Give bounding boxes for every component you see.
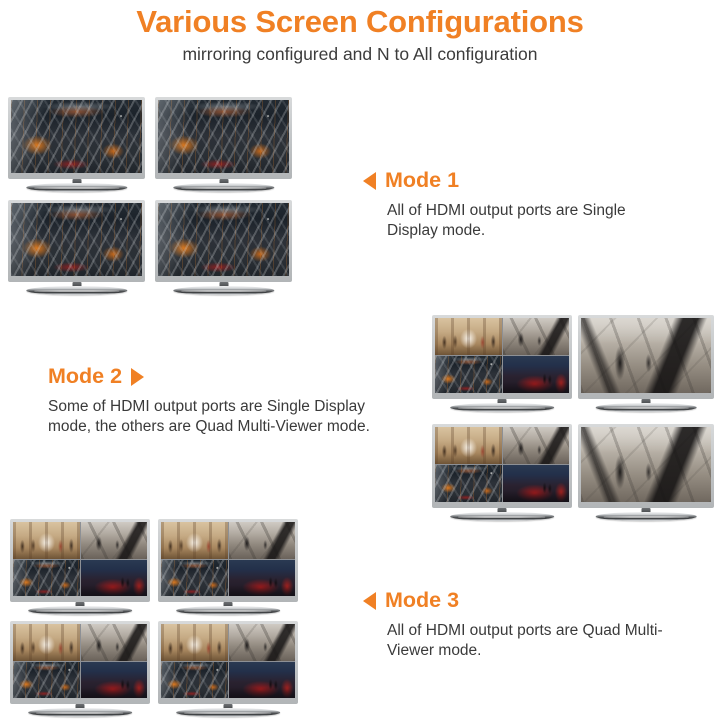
mode3-tv-4 (158, 621, 298, 717)
tv-screen (435, 318, 569, 393)
mode-2-block: Mode 2 Some of HDMI output ports are Sin… (48, 366, 373, 438)
screen-pane-battle (229, 522, 296, 559)
screen-pane-dusk (229, 560, 296, 597)
screen-pane-battle (503, 318, 570, 355)
triangle-left-icon (363, 592, 376, 610)
tv-stand (8, 282, 145, 295)
tv-screen (11, 100, 142, 173)
tv-stand (158, 602, 298, 615)
screen-pane-battle (503, 427, 570, 464)
mode1-tv-3 (8, 200, 145, 295)
tv-base (596, 403, 697, 412)
mode1-tv-4 (155, 200, 292, 295)
tv-base (28, 708, 132, 717)
screen-pane-battle (581, 318, 711, 393)
mode-1-heading: Mode 1 (363, 170, 663, 192)
screen-pane-city (11, 203, 142, 276)
screen-pane-city (435, 465, 502, 502)
mode3-tv-2 (158, 519, 298, 615)
mode-2-label: Mode 2 (48, 366, 122, 388)
tv-bezel (578, 315, 714, 399)
screen-pane-warm (161, 624, 228, 661)
tv-bezel (158, 621, 298, 704)
screen-pane-dusk (81, 560, 148, 597)
triangle-left-icon (363, 172, 376, 190)
tv-base (26, 286, 127, 295)
mode1-tv-1 (8, 97, 145, 192)
tv-bezel (8, 200, 145, 282)
screen-pane-dusk (503, 465, 570, 502)
tv-stand (578, 508, 714, 521)
screen-pane-warm (13, 624, 80, 661)
screen-pane-battle (81, 624, 148, 661)
mode-3-label: Mode 3 (385, 590, 459, 612)
tv-screen (13, 522, 147, 596)
screen-pane-city (158, 100, 289, 173)
mode3-tv-1 (10, 519, 150, 615)
screen-pane-city (11, 100, 142, 173)
triangle-right-icon (131, 368, 144, 386)
tv-stand (10, 602, 150, 615)
tv-stand (578, 399, 714, 412)
tv-bezel (578, 424, 714, 508)
screen-pane-city (13, 560, 80, 597)
tv-screen (161, 624, 295, 698)
screen-pane-warm (161, 522, 228, 559)
mode-3-description: All of HDMI output ports are Quad Multi-… (387, 621, 663, 662)
tv-screen (435, 427, 569, 502)
mode2-tv-4-single (578, 424, 714, 521)
tv-bezel (10, 621, 150, 704)
mode-2-description: Some of HDMI output ports are Single Dis… (48, 397, 373, 438)
tv-stand (158, 704, 298, 717)
screen-pane-battle (229, 624, 296, 661)
tv-base (173, 183, 274, 192)
tv-screen (11, 203, 142, 276)
mode-1-block: Mode 1 All of HDMI output ports are Sing… (363, 170, 663, 242)
page-title: Various Screen Configurations (0, 6, 720, 37)
tv-screen (158, 100, 289, 173)
screen-pane-city (435, 356, 502, 393)
screen-pane-city (161, 560, 228, 597)
tv-bezel (432, 315, 572, 399)
mode-3-heading: Mode 3 (363, 590, 663, 612)
tv-bezel (8, 97, 145, 179)
tv-base (450, 403, 554, 412)
tv-base (28, 606, 132, 615)
tv-screen (158, 203, 289, 276)
tv-stand (10, 704, 150, 717)
mode-2-heading: Mode 2 (48, 366, 373, 388)
page-header: Various Screen Configurations mirroring … (0, 0, 720, 64)
tv-bezel (155, 200, 292, 282)
tv-stand (155, 282, 292, 295)
tv-bezel (158, 519, 298, 602)
page-subtitle: mirroring configured and N to All config… (0, 46, 720, 64)
tv-base (176, 708, 280, 717)
tv-screen (581, 318, 711, 393)
mode2-tv-2-single (578, 315, 714, 412)
screen-pane-warm (435, 427, 502, 464)
mode2-tv-3-quad (432, 424, 572, 521)
tv-base (173, 286, 274, 295)
tv-stand (155, 179, 292, 192)
screen-pane-battle (81, 522, 148, 559)
screen-pane-dusk (81, 662, 148, 699)
mode-1-label: Mode 1 (385, 170, 459, 192)
screen-pane-battle (581, 427, 711, 502)
screen-pane-dusk (229, 662, 296, 699)
tv-base (176, 606, 280, 615)
screen-pane-city (13, 662, 80, 699)
tv-base (26, 183, 127, 192)
screen-pane-city (158, 203, 289, 276)
screen-pane-city (161, 662, 228, 699)
mode-1-description: All of HDMI output ports are Single Disp… (387, 201, 663, 242)
mode1-tv-2 (155, 97, 292, 192)
tv-stand (432, 508, 572, 521)
tv-screen (581, 427, 711, 502)
tv-base (596, 512, 697, 521)
mode2-tv-1-quad (432, 315, 572, 412)
tv-bezel (10, 519, 150, 602)
mode3-tv-3 (10, 621, 150, 717)
tv-screen (13, 624, 147, 698)
screen-pane-warm (13, 522, 80, 559)
tv-base (450, 512, 554, 521)
tv-screen (161, 522, 295, 596)
tv-stand (8, 179, 145, 192)
screen-pane-warm (435, 318, 502, 355)
screen-pane-dusk (503, 356, 570, 393)
mode-3-block: Mode 3 All of HDMI output ports are Quad… (363, 590, 663, 662)
tv-stand (432, 399, 572, 412)
tv-bezel (155, 97, 292, 179)
tv-bezel (432, 424, 572, 508)
